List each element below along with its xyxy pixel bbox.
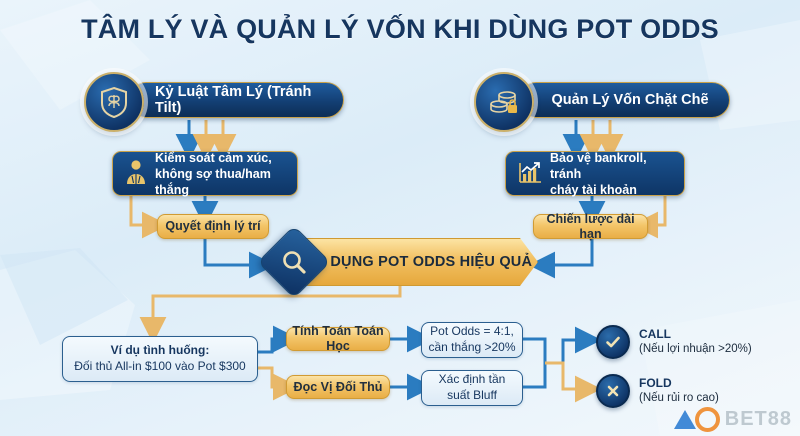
- outcome-call-text: CALL (Nếu lợi nhuận >20%): [639, 327, 752, 358]
- example-box[interactable]: Ví dụ tình huống: Đối thủ All-in $100 và…: [62, 336, 258, 382]
- outcome-fold-condition: (Nếu rủi ro cao): [639, 392, 719, 404]
- right-branch-result[interactable]: Chiến lược dài hạn: [533, 214, 648, 239]
- right-branch-result-label: Chiến lược dài hạn: [534, 212, 647, 242]
- left-detail-line2: không sợ thua/ham thắng: [155, 167, 271, 197]
- magnifier-icon: [257, 225, 331, 299]
- alobet88-logo: BET88: [674, 407, 792, 432]
- outcome-call-name: CALL: [639, 327, 752, 343]
- outcome-fold[interactable]: FOLD (Nếu rủi ro cao): [596, 374, 719, 408]
- left-detail-line1: Kiểm soát cảm xúc,: [155, 151, 272, 165]
- x-circle-icon: [596, 374, 630, 408]
- method-label-1: Đọc Vị Đối Thủ: [294, 380, 383, 395]
- method-label-0: Tính Toán Toán Học: [287, 324, 389, 354]
- left-branch-detail-label: Kiểm soát cảm xúc, không sợ thua/ham thắ…: [155, 150, 285, 198]
- growth-chart-icon: [518, 160, 542, 188]
- right-branch-header[interactable]: Quản Lý Vốn Chặt Chẽ: [518, 82, 730, 118]
- method-box-1[interactable]: Đọc Vị Đối Thủ: [286, 375, 390, 399]
- method-box-0[interactable]: Tính Toán Toán Học: [286, 327, 390, 351]
- coins-lock-icon: [474, 72, 534, 132]
- right-branch-header-label: Quản Lý Vốn Chặt Chẽ: [551, 92, 708, 108]
- finding-box-0[interactable]: Pot Odds = 4:1, cần thắng >20%: [421, 322, 523, 358]
- right-detail-line2: cháy tài khoản: [550, 183, 637, 197]
- center-banner-label: ÁP DỤNG POT ODDS HIỆU QUẢ: [306, 254, 532, 270]
- logo-a-icon: [674, 410, 696, 429]
- person-icon: [125, 159, 147, 189]
- right-branch-detail-label: Bảo vệ bankroll, tránh cháy tài khoản: [550, 150, 672, 198]
- infographic-canvas: TÂM LÝ VÀ QUẢN LÝ VỐN KHI DÙNG POT ODDS …: [0, 0, 800, 436]
- finding-line1-0: Pot Odds = 4:1,: [430, 324, 514, 340]
- outcome-fold-text: FOLD (Nếu rủi ro cao): [639, 376, 719, 407]
- right-branch-detail[interactable]: Bảo vệ bankroll, tránh cháy tài khoản: [505, 151, 685, 196]
- left-branch-header-label: Kỷ Luật Tâm Lý (Tránh Tilt): [155, 84, 329, 116]
- left-branch-result[interactable]: Quyết định lý trí: [157, 214, 269, 239]
- outcome-call-condition: (Nếu lợi nhuận >20%): [639, 343, 752, 355]
- left-branch-result-label: Quyết định lý trí: [165, 219, 260, 234]
- outcome-call[interactable]: CALL (Nếu lợi nhuận >20%): [596, 325, 752, 359]
- example-title: Ví dụ tình huống:: [111, 343, 210, 359]
- finding-line1-1: Xác định tần: [439, 372, 506, 388]
- finding-box-1[interactable]: Xác định tần suất Bluff: [421, 370, 523, 406]
- left-branch-detail[interactable]: Kiểm soát cảm xúc, không sợ thua/ham thắ…: [112, 151, 298, 196]
- right-detail-line1: Bảo vệ bankroll, tránh: [550, 151, 647, 181]
- logo-text: BET88: [725, 408, 792, 431]
- finding-line2-0: cần thắng >20%: [428, 340, 515, 356]
- center-banner-body: ÁP DỤNG POT ODDS HIỆU QUẢ: [300, 238, 538, 286]
- shield-brain-icon: [84, 72, 144, 132]
- outcome-fold-name: FOLD: [639, 376, 719, 392]
- left-branch-header[interactable]: Kỷ Luật Tâm Lý (Tránh Tilt): [128, 82, 344, 118]
- page-title: TÂM LÝ VÀ QUẢN LÝ VỐN KHI DÙNG POT ODDS: [0, 14, 800, 45]
- finding-line2-1: suất Bluff: [447, 388, 497, 404]
- center-banner[interactable]: ÁP DỤNG POT ODDS HIỆU QUẢ: [268, 238, 536, 284]
- logo-o-icon: [695, 407, 720, 432]
- example-detail: Đối thủ All-in $100 vào Pot $300: [74, 359, 245, 375]
- check-circle-icon: [596, 325, 630, 359]
